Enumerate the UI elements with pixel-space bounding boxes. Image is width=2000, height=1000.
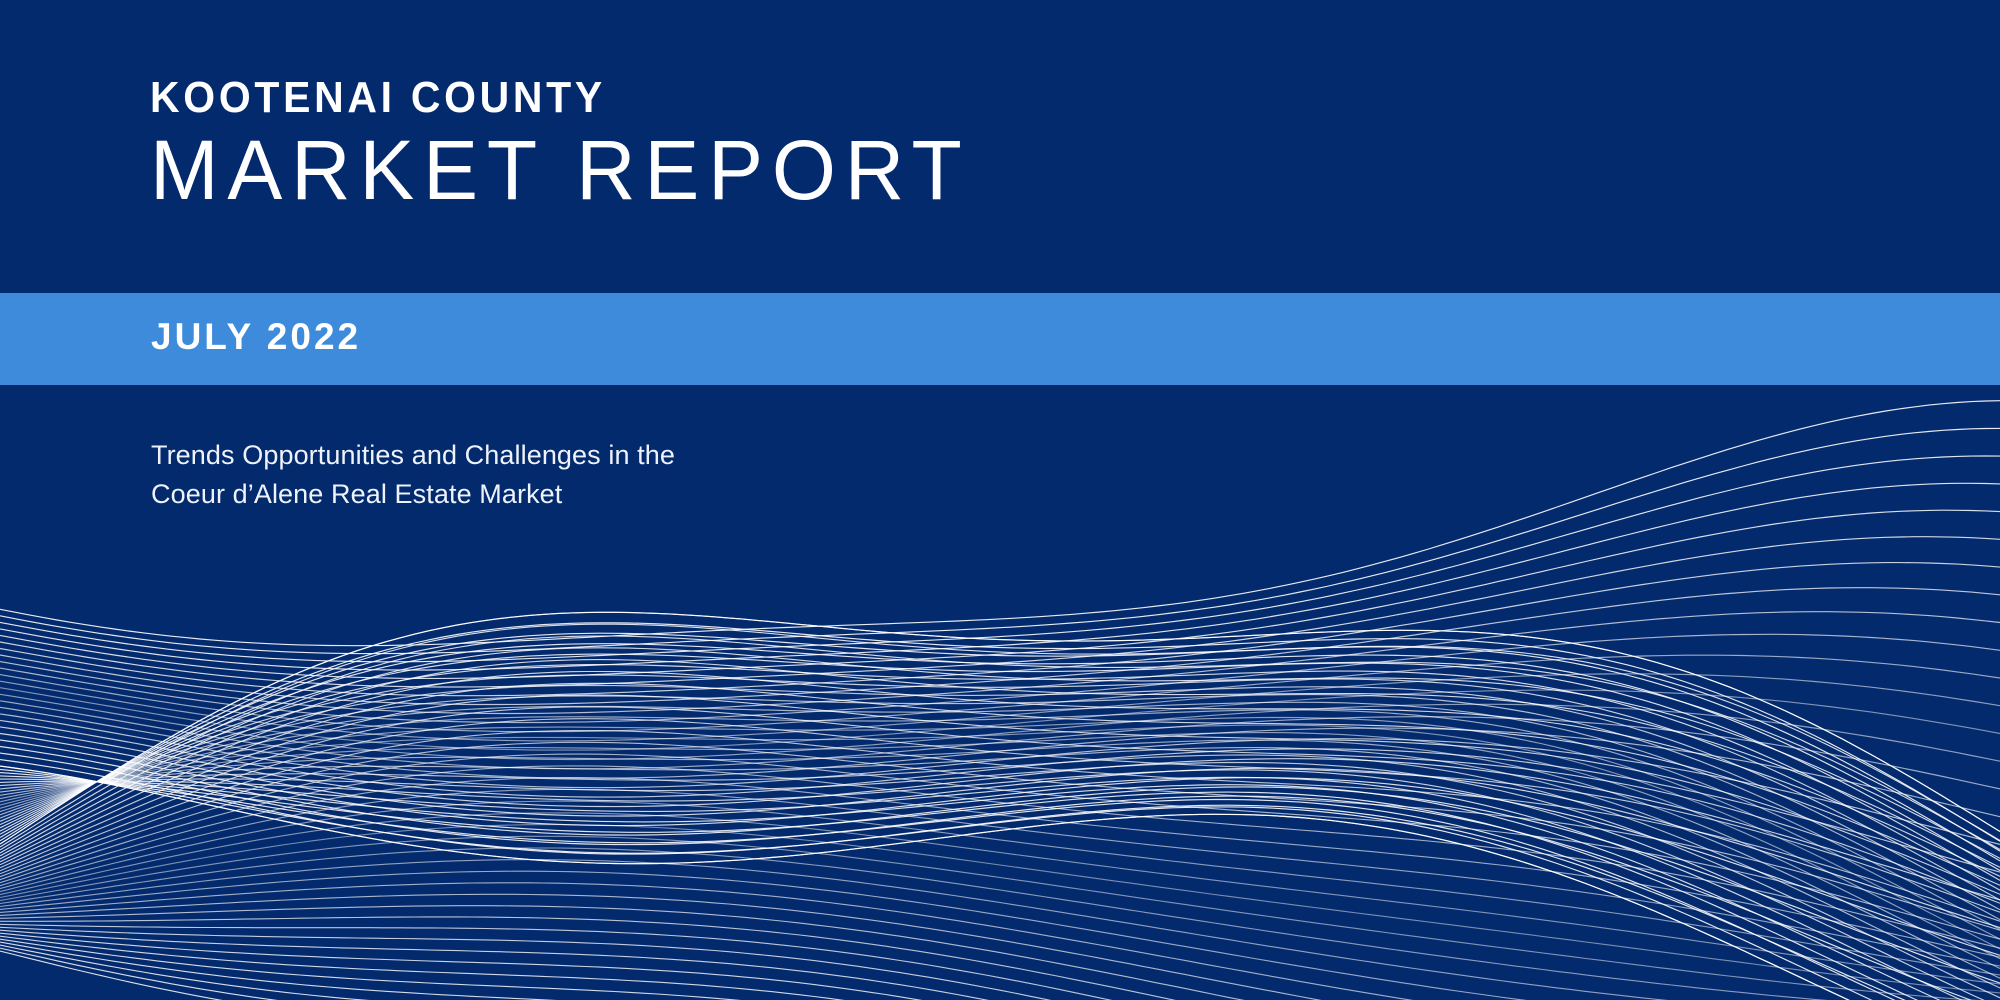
wave-line [0,740,2000,955]
wave-line [0,707,2000,816]
market-report-cover: KOOTENAI COUNTY MARKET REPORT JULY 2022 … [0,0,2000,1000]
wave-line [0,801,2000,975]
wave-line [0,933,2000,1000]
wave-line [0,860,2000,1000]
wave-line [0,644,2000,861]
wave-line [0,563,2000,696]
wave-line [0,813,2000,984]
report-date-label: JULY 2022 [151,318,361,355]
wave-line [0,537,2000,687]
wave-line [0,727,2000,900]
wave-line [0,674,2000,741]
wave-line [0,720,2000,872]
wave-line [0,683,2000,885]
wave-line [0,773,2000,1000]
wave-line [0,648,2000,859]
wave-line [0,623,2000,842]
wave-line [0,770,2000,1000]
wave-line [0,718,2000,940]
page-title: MARKET REPORT [150,128,971,212]
wave-line [0,936,2000,1000]
wave-line [0,612,2000,844]
wave-line [0,825,2000,993]
wave-line [0,883,2000,1000]
wave-line [0,695,2000,894]
wave-line [0,694,2000,761]
wave-line [0,776,2000,1000]
wave-line [0,633,2000,851]
wave-line [0,927,2000,1000]
wave-line [0,766,2000,1000]
wave-line [0,930,2000,1000]
wave-line [0,740,2000,968]
wave-line [0,636,2000,850]
wave-line [0,725,2000,949]
wave-line [0,906,2000,1000]
subtitle: Trends Opportunities and Challenges in t… [151,436,675,514]
wave-line [0,942,2000,1000]
wave-line [0,763,2000,998]
eyebrow-title: KOOTENAI COUNTY [150,76,606,120]
wave-line [0,701,2000,789]
wave-line [0,836,2000,1000]
wave-line [0,769,2000,1000]
wave-line [0,675,2000,890]
wave-line [0,748,2000,979]
wave-line [0,695,2000,910]
wave-line [0,789,2000,966]
wave-line [0,766,2000,948]
subtitle-line-2: Coeur d’Alene Real Estate Market [151,475,675,514]
wave-line [0,710,2000,929]
wave-line [0,848,2000,1000]
wave-line [0,612,2000,714]
wave-line [0,634,2000,722]
wave-line [0,917,2000,1000]
wave-line [0,754,2000,939]
date-band: JULY 2022 [0,293,2000,385]
wave-line [0,894,2000,1000]
wave-line [0,734,2000,928]
wave-line [0,665,2000,881]
wave-line [0,672,2000,877]
wave-line [0,779,2000,1000]
wave-line [0,747,2000,984]
wave-line [0,777,2000,1000]
wave-line [0,714,2000,845]
wave-line [0,707,2000,903]
wave-line [0,686,2000,901]
wave-line [0,742,2000,930]
wave-line [0,760,2000,1000]
wave-line [0,660,2000,868]
wave-line [0,733,2000,959]
wave-line [0,655,2000,732]
wave-line [0,924,2000,1000]
wave-line [0,753,2000,1000]
wave-line [0,624,2000,847]
wave-line [0,945,2000,1000]
wave-line [0,688,2000,750]
subtitle-line-1: Trends Opportunities and Challenges in t… [151,436,675,475]
header-block: KOOTENAI COUNTY MARKET REPORT [0,0,2000,293]
wave-line [0,612,2000,844]
wave-line [0,755,2000,988]
wave-line [0,778,2000,958]
wave-line [0,702,2000,919]
wave-line [0,510,2000,678]
wave-line [0,766,2000,1000]
wave-line [0,948,2000,1000]
wave-line [0,719,2000,913]
wave-line [0,731,2000,922]
wave-line [0,588,2000,705]
wave-line [0,939,2000,1000]
wave-line [0,654,2000,871]
wave-line [0,871,2000,1000]
wave-line [0,951,2000,1000]
